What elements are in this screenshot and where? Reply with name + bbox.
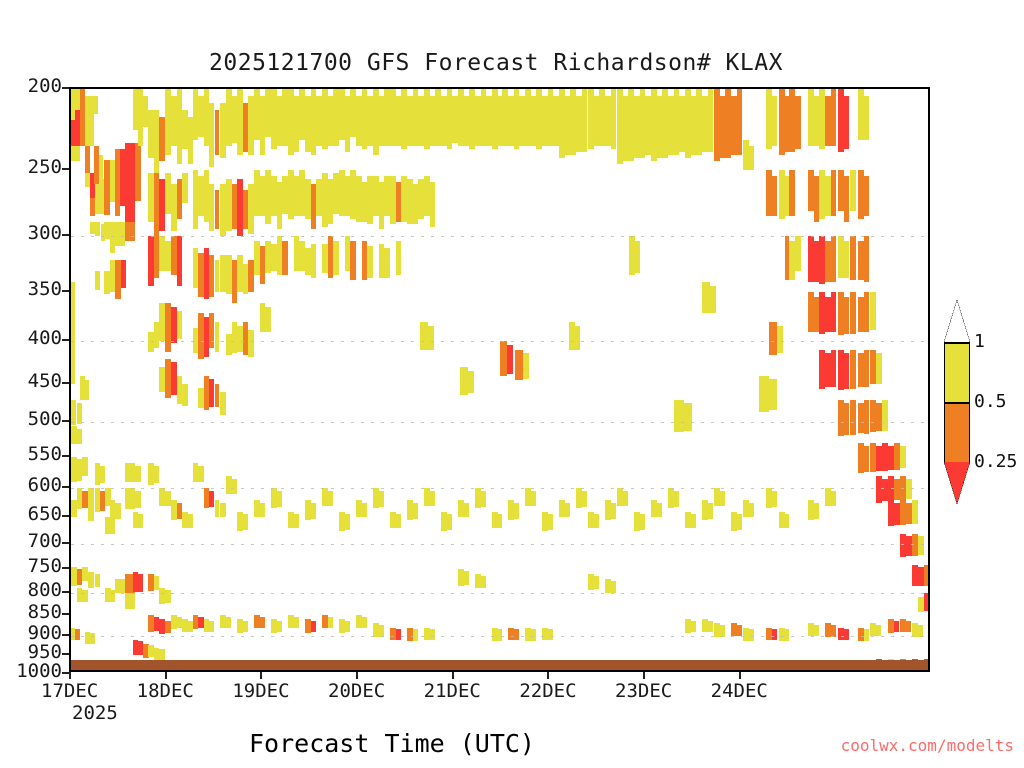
heatmap-cell — [749, 146, 754, 170]
heatmap-cell — [918, 597, 924, 612]
heatmap-cell — [844, 403, 849, 435]
heatmap-cell — [777, 326, 783, 353]
heatmap-cell — [514, 503, 519, 519]
heatmap-cell — [159, 367, 165, 392]
heatmap-cell — [500, 341, 508, 376]
heatmap-cell — [870, 292, 876, 329]
heatmap-cell — [708, 503, 713, 519]
heatmap-cell — [379, 625, 384, 636]
heatmap-cell — [115, 222, 125, 246]
heatmap-cell — [94, 96, 98, 113]
heatmap-cell — [328, 491, 333, 506]
colorbar-arrow-down-outline — [944, 462, 970, 504]
heatmap-cell — [844, 176, 849, 222]
heatmap-cell — [831, 292, 836, 331]
heatmap-plot-area — [69, 87, 930, 672]
heatmap-cell — [232, 479, 237, 495]
heatmap-cell — [115, 579, 125, 593]
heatmap-cell — [575, 326, 580, 350]
heatmap-cell — [850, 292, 856, 333]
heatmap-cell — [99, 155, 103, 184]
heatmap-cell — [737, 625, 742, 636]
heatmap-cell — [328, 617, 333, 628]
heatmap-cell — [188, 514, 193, 528]
heatmap-cell — [322, 244, 328, 274]
heatmap-cell — [657, 503, 662, 518]
y-tick-label-1000: 1000 — [0, 660, 62, 682]
heatmap-cell — [498, 629, 503, 640]
heatmap-cell — [350, 241, 356, 280]
heatmap-cell — [737, 89, 742, 155]
heatmap-cell — [75, 629, 80, 640]
y-tick-mark-350 — [62, 290, 69, 292]
y-tick-mark-850 — [62, 613, 69, 615]
heatmap-cell — [772, 176, 777, 217]
heatmap-cell — [708, 621, 713, 632]
heatmap-cell — [814, 625, 819, 636]
heatmap-cell — [850, 170, 856, 211]
heatmap-cell — [77, 403, 82, 424]
heatmap-cell — [468, 371, 474, 394]
heatmap-cell — [82, 590, 88, 602]
heatmap-cell — [831, 350, 836, 387]
heatmap-cell — [611, 503, 616, 519]
heatmap-cell — [243, 514, 248, 529]
heatmap-cell — [215, 260, 220, 293]
heatmap-cell — [674, 491, 679, 507]
heatmap-cell — [121, 260, 126, 288]
colorbar-band-orange-divider — [944, 402, 970, 404]
heatmap-cell — [623, 491, 628, 506]
heatmap-cell — [924, 593, 930, 611]
heatmap-cell — [215, 384, 220, 407]
heatmap-cell — [515, 350, 523, 381]
heatmap-cell — [514, 629, 519, 640]
heatmap-cell — [154, 466, 159, 484]
heatmap-cell — [789, 170, 795, 216]
heatmap-cell — [850, 236, 856, 279]
y-tick-label-700: 700 — [0, 530, 62, 552]
heatmap-cell — [795, 96, 801, 149]
heatmap-cell — [85, 146, 90, 173]
y-tick-label-350: 350 — [0, 278, 62, 300]
y-tick-label-200: 200 — [0, 75, 62, 97]
heatmap-cell — [311, 244, 316, 278]
heatmap-cell — [814, 503, 819, 519]
heatmap-cell — [362, 503, 367, 518]
heatmap-cell — [498, 514, 503, 528]
x-tick-mark-21DEC — [452, 672, 454, 679]
heatmap-cell — [831, 89, 836, 146]
heatmap-cell — [582, 89, 587, 152]
heatmap-cell — [71, 146, 80, 161]
heatmap-cell — [831, 625, 836, 636]
heatmap-cell — [844, 241, 849, 277]
heatmap-cell — [710, 286, 716, 312]
heatmap-cell — [464, 571, 469, 584]
x-tick-mark-19DEC — [260, 672, 262, 679]
heatmap-cell — [772, 629, 777, 640]
y-tick-mark-750 — [62, 567, 69, 569]
heatmap-cell — [311, 503, 316, 519]
x-tick-mark-17DEC — [69, 672, 71, 679]
heatmap-cell — [396, 241, 401, 275]
heatmap-cell — [785, 629, 790, 640]
y-tick-label-300: 300 — [0, 222, 62, 244]
heatmap-cell — [864, 236, 869, 281]
heatmap-cell — [906, 621, 911, 632]
heatmap-cell — [582, 491, 587, 507]
y-tick-mark-800 — [62, 591, 69, 593]
y-tick-mark-950 — [62, 653, 69, 655]
heatmap-cell — [611, 581, 616, 593]
heatmap-cell — [71, 282, 75, 384]
colorbar-tick-label-1: 0.5 — [974, 391, 1007, 412]
heatmap-cell — [396, 514, 401, 528]
heatmap-cell — [831, 170, 836, 216]
heatmap-cell — [100, 466, 105, 484]
x-axis-title-text: Forecast Time (UTC) — [249, 729, 535, 758]
heatmap-cell — [850, 350, 856, 389]
heatmap-cell — [831, 491, 836, 506]
heatmap-cell — [271, 244, 277, 271]
heatmap-cell — [924, 565, 930, 586]
y-tick-label-750: 750 — [0, 555, 62, 577]
heatmap-cell — [737, 514, 742, 529]
heatmap-cell — [708, 89, 713, 152]
heatmap-cell — [125, 463, 135, 482]
heatmap-cell — [844, 353, 849, 388]
heatmap-cell — [226, 617, 231, 628]
heatmap-cell — [345, 514, 350, 529]
heatmap-cell — [548, 514, 553, 529]
y-tick-mark-1000 — [62, 672, 69, 674]
heatmap-cell — [864, 629, 869, 640]
x-tick-mark-24DEC — [739, 672, 741, 679]
heatmap-cell — [193, 328, 198, 353]
x-tick-label-23DEC: 23DEC — [615, 680, 672, 702]
heatmap-cell — [565, 503, 570, 518]
y-tick-mark-300 — [62, 234, 69, 236]
heatmap-cell — [396, 629, 401, 640]
heatmap-cell — [182, 173, 188, 203]
heatmap-cell — [611, 89, 616, 149]
heatmap-cell — [749, 503, 754, 518]
y-tick-mark-450 — [62, 382, 69, 384]
heatmap-cell — [215, 110, 220, 155]
heatmap-cell — [85, 380, 89, 401]
y-tick-label-600: 600 — [0, 474, 62, 496]
heatmap-cell — [220, 503, 226, 518]
heatmap-cell — [464, 503, 469, 518]
heatmap-cell — [795, 236, 801, 271]
heatmap-cell — [460, 367, 468, 395]
heatmap-cell — [277, 491, 282, 507]
heatmap-cell — [831, 236, 836, 281]
heatmap-cell — [772, 491, 777, 507]
heatmap-cell — [523, 353, 529, 378]
x-tick-label-17DEC: 17DEC — [41, 680, 98, 702]
heatmap-cell — [135, 466, 141, 482]
heatmap-cell — [918, 625, 923, 636]
heatmap-cell — [294, 617, 299, 628]
heatmap-cell — [260, 617, 265, 628]
colorbar-band-yellow-divider — [944, 342, 970, 344]
heatmap-cell — [759, 376, 769, 412]
heatmap-cell — [243, 621, 248, 633]
heatmap-cell — [384, 248, 390, 277]
heatmap-cell — [198, 466, 204, 482]
heatmap-cell — [428, 326, 434, 350]
heatmap-cell — [125, 222, 135, 242]
heatmap-cell — [294, 514, 299, 528]
x-tick-label-24DEC: 24DEC — [711, 680, 768, 702]
heatmap-cell — [95, 222, 100, 237]
y-tick-mark-600 — [62, 486, 69, 488]
heatmap-cell — [165, 590, 171, 603]
heatmap-cell — [635, 241, 640, 273]
heatmap-cell — [481, 491, 486, 507]
y-tick-label-500: 500 — [0, 408, 62, 430]
heatmap-cell — [447, 514, 452, 529]
heatmap-cell — [220, 392, 226, 415]
heatmap-cell — [918, 536, 924, 555]
heatmap-cell — [282, 241, 288, 275]
heatmap-cell — [110, 520, 115, 534]
heatmap-cell — [430, 629, 435, 640]
x-tick-mark-20DEC — [356, 672, 358, 679]
x-tick-mark-23DEC — [643, 672, 645, 679]
heatmap-cell — [413, 629, 418, 640]
heatmap-cell — [769, 322, 777, 355]
heatmap-cell — [876, 353, 882, 383]
y-tick-mark-400 — [62, 339, 69, 341]
heatmap-cell — [844, 629, 849, 640]
heatmap-cell — [594, 576, 599, 589]
y-tick-mark-250 — [62, 168, 69, 170]
heatmap-cell — [894, 621, 899, 633]
heatmap-cell — [138, 514, 143, 528]
chart-title-text: 2025121700 GFS Forecast Richardson# KLAX — [209, 50, 783, 76]
heatmap-cell — [864, 96, 869, 140]
colorbar-band-orange — [944, 402, 970, 462]
chart-canvas: 2025121700 GFS Forecast Richardson# KLAX… — [0, 0, 1024, 768]
x-axis-year-label: 2025 — [72, 702, 118, 724]
heatmap-cell — [177, 236, 182, 286]
y-tick-label-550: 550 — [0, 443, 62, 465]
heatmap-cell — [864, 350, 869, 387]
heatmap-cell — [159, 649, 165, 660]
x-tick-mark-22DEC — [547, 672, 549, 679]
heatmap-cell — [379, 491, 384, 507]
heatmap-cell — [906, 479, 912, 500]
heatmap-cell — [749, 629, 754, 640]
heatmap-cell — [226, 334, 232, 356]
heatmap-cell — [95, 271, 100, 290]
heatmap-cell — [71, 500, 77, 517]
heatmap-cell — [785, 514, 790, 528]
heatmap-cell — [882, 400, 888, 431]
heatmap-cell — [90, 633, 95, 643]
heatmap-cell — [548, 629, 553, 640]
heatmap-cell — [182, 384, 188, 406]
heatmap-cell — [215, 500, 220, 517]
heatmap-cell — [420, 322, 428, 350]
heatmap-cell — [85, 96, 94, 146]
x-tick-label-19DEC: 19DEC — [232, 680, 289, 702]
heatmap-cell — [507, 345, 513, 374]
y-tick-label-450: 450 — [0, 370, 62, 392]
heatmap-cell — [154, 322, 159, 348]
heatmap-cell — [135, 143, 141, 201]
heatmap-cell — [772, 96, 777, 146]
x-tick-label-22DEC: 22DEC — [519, 680, 576, 702]
x-tick-label-18DEC: 18DEC — [137, 680, 194, 702]
heatmap-cell — [110, 222, 115, 253]
heatmap-cell — [265, 307, 271, 332]
heatmap-cell — [305, 248, 311, 275]
chart-title: 2025121700 GFS Forecast Richardson# KLAX — [0, 50, 1024, 76]
heatmap-cell — [367, 246, 373, 278]
colorbar-band-yellow — [944, 342, 970, 402]
y-tick-label-800: 800 — [0, 579, 62, 601]
heatmap-cell — [594, 514, 599, 528]
heatmap-cell — [864, 446, 869, 472]
y-tick-mark-700 — [62, 542, 69, 544]
heatmap-cell — [864, 292, 869, 331]
heatmap-cell — [333, 241, 339, 275]
heatmap-cell — [691, 621, 696, 633]
colorbar-tick-label-2: 0.25 — [974, 451, 1017, 472]
heatmap-cell — [345, 621, 350, 633]
heatmap-cell — [88, 572, 94, 588]
heatmap-cell — [125, 488, 135, 509]
y-tick-mark-500 — [62, 420, 69, 422]
heatmap-cell — [864, 176, 869, 217]
heatmap-cell — [277, 621, 282, 633]
colorbar-tick-label-0: 1 — [974, 331, 985, 352]
heatmap-cell — [82, 457, 88, 476]
heatmap-cell — [413, 503, 418, 519]
y-tick-mark-900 — [62, 634, 69, 636]
heatmap-cell-layer — [71, 89, 928, 670]
heatmap-cell — [720, 491, 725, 506]
heatmap-cell — [104, 222, 110, 239]
heatmap-cell — [769, 379, 777, 410]
heatmap-cell — [215, 190, 220, 229]
heatmap-cell — [481, 576, 486, 588]
heatmap-cell — [430, 182, 435, 227]
x-tick-label-21DEC: 21DEC — [424, 680, 481, 702]
y-tick-label-650: 650 — [0, 503, 62, 525]
heatmap-cell — [720, 625, 725, 636]
y-tick-mark-200 — [62, 87, 69, 89]
heatmap-cell — [531, 491, 536, 506]
heatmap-cell — [912, 500, 918, 524]
x-tick-label-20DEC: 20DEC — [328, 680, 385, 702]
heatmap-cell — [362, 617, 367, 628]
heatmap-cell — [691, 514, 696, 528]
heatmap-cell — [850, 400, 856, 435]
heatmap-cell — [531, 629, 536, 640]
x-tick-mark-18DEC — [165, 672, 167, 679]
heatmap-cell — [135, 491, 141, 509]
heatmap-cell — [864, 400, 869, 434]
heatmap-cell — [77, 429, 82, 444]
heatmap-cell — [177, 311, 182, 339]
heatmap-cell — [88, 506, 94, 521]
heatmap-cell — [900, 446, 906, 468]
y-tick-label-250: 250 — [0, 156, 62, 178]
heatmap-cell — [640, 514, 645, 529]
y-tick-label-400: 400 — [0, 327, 62, 349]
y-tick-label-850: 850 — [0, 601, 62, 623]
heatmap-cell — [115, 503, 121, 519]
heatmap-cell — [311, 621, 316, 633]
heatmap-cell — [125, 593, 135, 609]
heatmap-cell — [684, 403, 692, 431]
heatmap-cell — [876, 625, 881, 636]
heatmap-cell — [248, 330, 254, 357]
heatmap-cell — [95, 574, 100, 587]
heatmap-cell — [209, 621, 215, 632]
y-tick-mark-550 — [62, 455, 69, 457]
watermark-label: coolwx.com/modelts — [841, 736, 1014, 755]
heatmap-cell — [844, 96, 849, 149]
heatmap-cell — [71, 400, 76, 425]
heatmap-cell — [104, 271, 110, 294]
heatmap-cell — [138, 574, 143, 592]
heatmap-cell — [148, 332, 154, 352]
heatmap-cell — [844, 297, 849, 334]
heatmap-cell — [260, 503, 265, 518]
heatmap-cell — [702, 282, 710, 313]
heatmap-cell — [430, 491, 435, 506]
y-tick-mark-650 — [62, 515, 69, 517]
heatmap-cell — [674, 400, 684, 433]
heatmap-cell — [198, 388, 204, 408]
colorbar-arrow-up-outline — [944, 300, 970, 342]
terrain-band — [71, 660, 928, 672]
heatmap-cell — [125, 143, 135, 222]
heatmap-cell — [215, 322, 220, 351]
